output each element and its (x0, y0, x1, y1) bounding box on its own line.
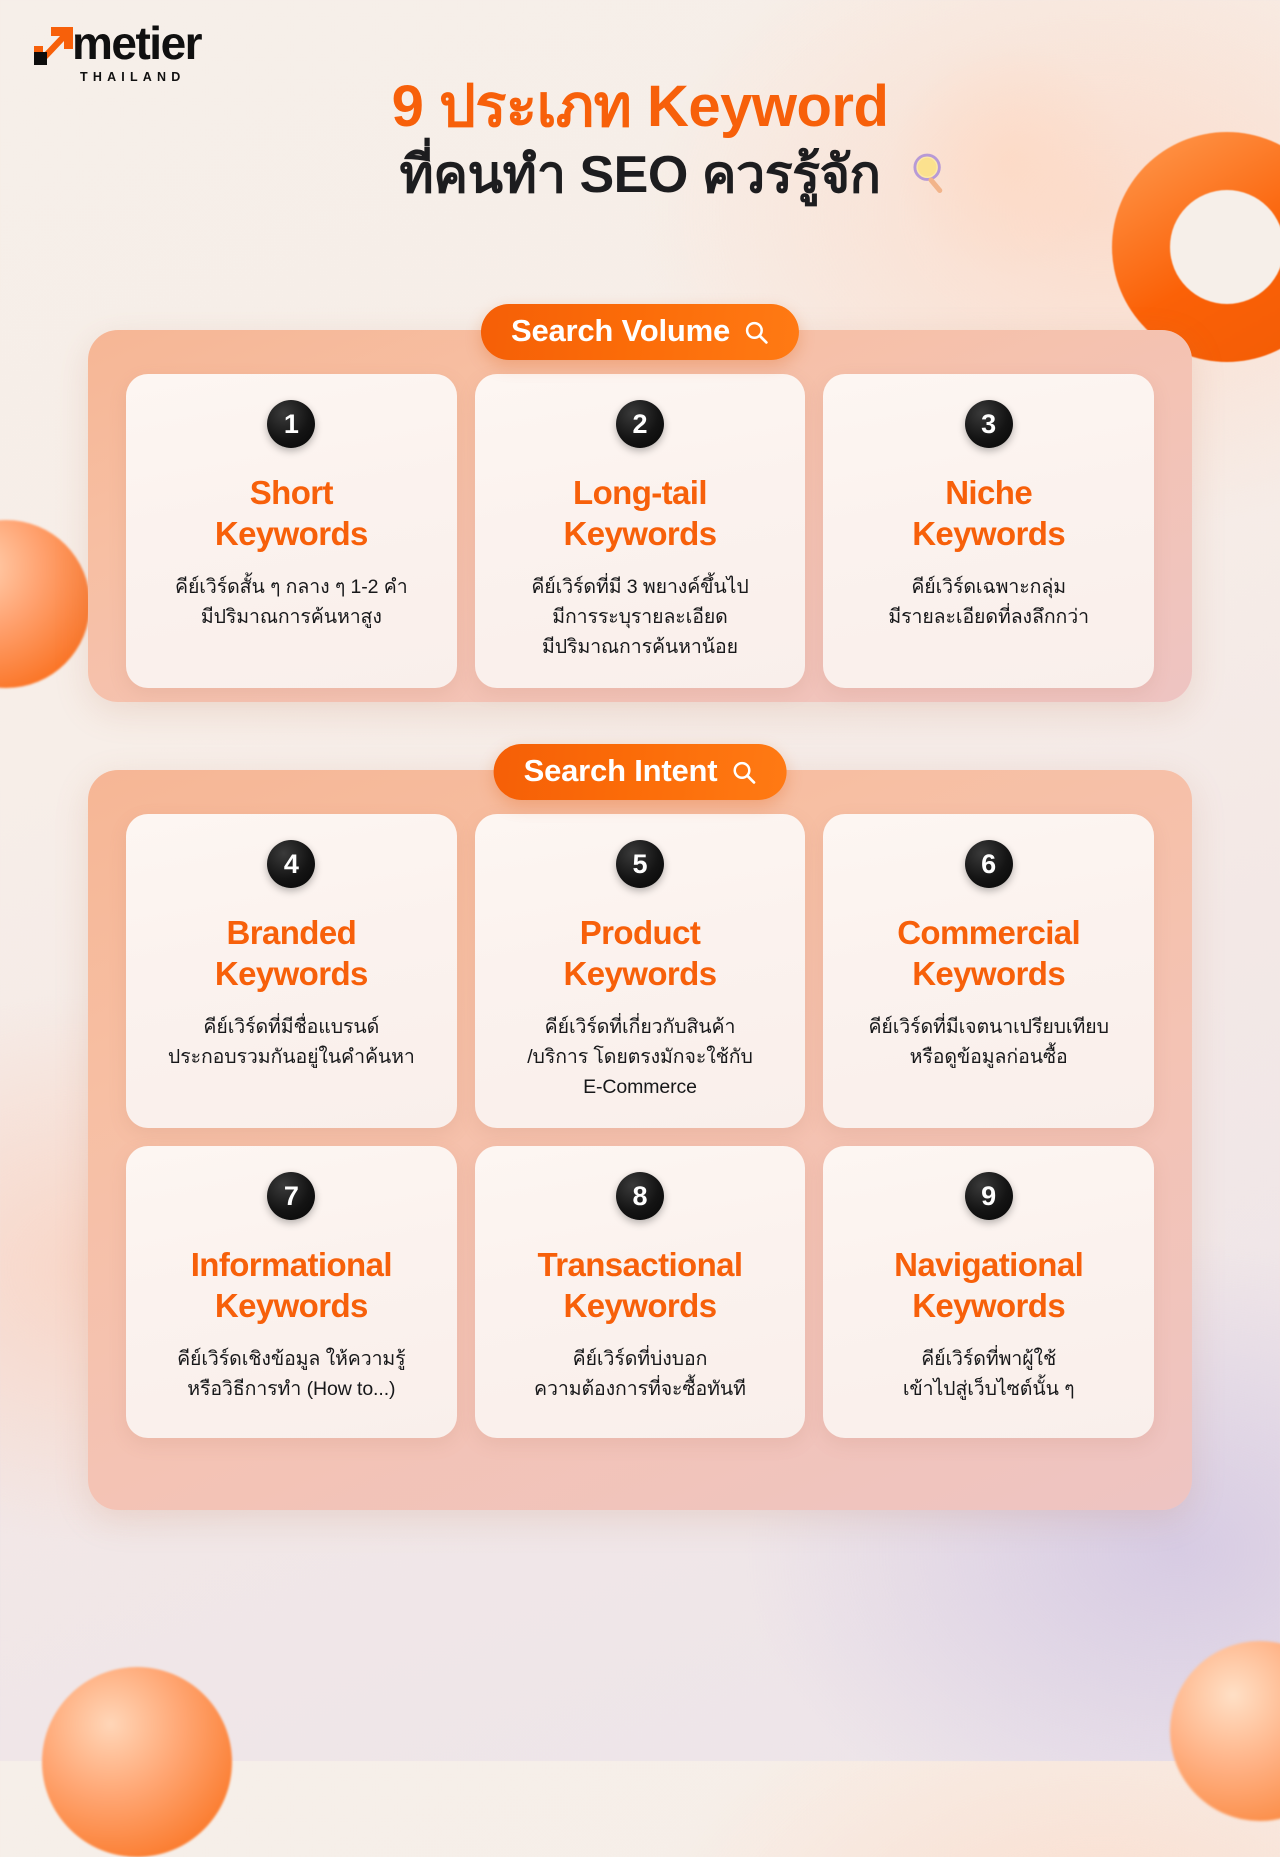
card-desc-line: เข้าไปสู่เว็บไซต์นั้น ๆ (903, 1374, 1075, 1404)
card-title: Short Keywords (215, 472, 368, 554)
card-number-badge: 9 (965, 1172, 1013, 1220)
logo-wordmark: metier (72, 20, 201, 66)
keyword-card[interactable]: 3 Niche Keywords คีย์เวิร์ดเฉพาะกลุ่ม มี… (823, 374, 1154, 688)
decorative-sphere-bottom-left (42, 1667, 232, 1857)
card-title-line: Navigational (894, 1246, 1083, 1283)
card-desc-line: คีย์เวิร์ดที่พาผู้ใช้ (903, 1344, 1075, 1374)
card-title-line: Keywords (912, 955, 1065, 992)
card-desc-line: คีย์เวิร์ดที่มี 3 พยางค์ขึ้นไป (531, 572, 748, 602)
card-title-line: Informational (191, 1246, 392, 1283)
keyword-card[interactable]: 7 Informational Keywords คีย์เวิร์ดเชิงข… (126, 1146, 457, 1438)
title-line-2-wrapper: ที่คนทำ SEO ควรรู้จัก (399, 142, 880, 208)
card-desc-line: หรือวิธีการทำ (How to...) (177, 1374, 405, 1404)
card-number-badge: 4 (267, 840, 315, 888)
card-desc-line: คีย์เวิร์ดเชิงข้อมูล ให้ความรู้ (177, 1344, 405, 1374)
card-desc-line: มีปริมาณการค้นหาน้อย (531, 632, 748, 662)
card-title-line: Keywords (215, 1287, 368, 1324)
card-desc-line: มีปริมาณการค้นหาสูง (175, 602, 408, 632)
card-description: คีย์เวิร์ดที่บ่งบอก ความต้องการที่จะซื้อ… (534, 1344, 746, 1404)
section-search-volume: Search Volume 1 Short Keywords คีย์เวิร์… (88, 330, 1192, 702)
card-desc-line: มีการระบุรายละเอียด (531, 602, 748, 632)
card-desc-line: คีย์เวิร์ดที่บ่งบอก (534, 1344, 746, 1374)
card-desc-line: /บริการ โดยตรงมักจะใช้กับ (527, 1042, 753, 1072)
keyword-card[interactable]: 8 Transactional Keywords คีย์เวิร์ดที่บ่… (475, 1146, 806, 1438)
card-title: Navigational Keywords (894, 1244, 1083, 1326)
keyword-card[interactable]: 9 Navigational Keywords คีย์เวิร์ดที่พาผ… (823, 1146, 1154, 1438)
section-header-search-volume: Search Volume (481, 304, 799, 360)
card-number-badge: 6 (965, 840, 1013, 888)
keyword-card[interactable]: 2 Long-tail Keywords คีย์เวิร์ดที่มี 3 พ… (475, 374, 806, 688)
card-desc-line: คีย์เวิร์ดสั้น ๆ กลาง ๆ 1-2 คำ (175, 572, 408, 602)
card-description: คีย์เวิร์ดเชิงข้อมูล ให้ความรู้ หรือวิธี… (177, 1344, 405, 1404)
card-title: Branded Keywords (215, 912, 368, 994)
card-title-line: Keywords (215, 515, 368, 552)
keyword-card[interactable]: 5 Product Keywords คีย์เวิร์ดที่เกี่ยวกั… (475, 814, 806, 1128)
section-header-search-intent: Search Intent (494, 744, 787, 800)
card-title-line: Branded (226, 914, 356, 951)
card-grid-volume: 1 Short Keywords คีย์เวิร์ดสั้น ๆ กลาง ๆ… (88, 330, 1192, 726)
card-title-line: Keywords (912, 515, 1065, 552)
card-desc-line: มีรายละเอียดที่ลงลึกกว่า (888, 602, 1089, 632)
search-icon (731, 760, 756, 785)
card-description: คีย์เวิร์ดที่มีชื่อแบรนด์ ประกอบรวมกันอย… (168, 1012, 415, 1072)
card-number-badge: 2 (616, 400, 664, 448)
card-title-line: Short (250, 474, 333, 511)
title-line-1: 9 ประเภท Keyword (0, 72, 1280, 142)
card-title: Informational Keywords (191, 1244, 392, 1326)
card-description: คีย์เวิร์ดที่พาผู้ใช้ เข้าไปสู่เว็บไซต์น… (903, 1344, 1075, 1404)
card-description: คีย์เวิร์ดที่มี 3 พยางค์ขึ้นไป มีการระบุ… (531, 572, 748, 662)
arrow-up-right-icon (30, 24, 76, 66)
card-desc-line: ความต้องการที่จะซื้อทันที (534, 1374, 746, 1404)
card-description: คีย์เวิร์ดที่เกี่ยวกับสินค้า /บริการ โดย… (527, 1012, 753, 1102)
card-title-line: Niche (945, 474, 1032, 511)
card-title: Transactional Keywords (538, 1244, 743, 1326)
card-number-badge: 3 (965, 400, 1013, 448)
section-title: Search Volume (511, 313, 730, 349)
card-title-line: Keywords (564, 955, 717, 992)
card-title-line: Long-tail (573, 474, 707, 511)
card-title-line: Commercial (897, 914, 1080, 951)
card-description: คีย์เวิร์ดสั้น ๆ กลาง ๆ 1-2 คำ มีปริมาณก… (175, 572, 408, 632)
card-number-badge: 1 (267, 400, 315, 448)
decorative-sphere-bottom-right (1170, 1641, 1280, 1821)
card-desc-line: หรือดูข้อมูลก่อนซื้อ (868, 1042, 1108, 1072)
page-title: 9 ประเภท Keyword ที่คนทำ SEO ควรรู้จัก (0, 72, 1280, 208)
decorative-sphere-left (0, 520, 90, 688)
card-title-line: Keywords (564, 515, 717, 552)
card-title: Long-tail Keywords (564, 472, 717, 554)
card-title-line: Keywords (564, 1287, 717, 1324)
card-desc-line: คีย์เวิร์ดเฉพาะกลุ่ม (888, 572, 1089, 602)
keyword-card[interactable]: 1 Short Keywords คีย์เวิร์ดสั้น ๆ กลาง ๆ… (126, 374, 457, 688)
card-title-line: Product (580, 914, 700, 951)
card-number-badge: 5 (616, 840, 664, 888)
card-number-badge: 8 (616, 1172, 664, 1220)
card-title: Commercial Keywords (897, 912, 1080, 994)
card-title: Product Keywords (564, 912, 717, 994)
card-title: Niche Keywords (912, 472, 1065, 554)
card-desc-line: คีย์เวิร์ดที่เกี่ยวกับสินค้า (527, 1012, 753, 1042)
card-grid-intent: 4 Branded Keywords คีย์เวิร์ดที่มีชื่อแบ… (88, 770, 1192, 1472)
keyword-card[interactable]: 4 Branded Keywords คีย์เวิร์ดที่มีชื่อแบ… (126, 814, 457, 1128)
card-description: คีย์เวิร์ดที่มีเจตนาเปรียบเทียบ หรือดูข้… (868, 1012, 1108, 1072)
card-title-line: Transactional (538, 1246, 743, 1283)
title-line-2: ที่คนทำ SEO ควรรู้จัก (399, 146, 880, 204)
card-desc-line: E-Commerce (527, 1072, 753, 1102)
card-number-badge: 7 (267, 1172, 315, 1220)
section-title: Search Intent (524, 753, 718, 789)
magnifying-glass-icon (907, 150, 953, 196)
section-search-intent: Search Intent 4 Branded Keywords คีย์เวิ… (88, 770, 1192, 1510)
keyword-card[interactable]: 6 Commercial Keywords คีย์เวิร์ดที่มีเจต… (823, 814, 1154, 1128)
card-desc-line: ประกอบรวมกันอยู่ในคำค้นหา (168, 1042, 415, 1072)
card-desc-line: คีย์เวิร์ดที่มีเจตนาเปรียบเทียบ (868, 1012, 1108, 1042)
card-title-line: Keywords (912, 1287, 1065, 1324)
card-title-line: Keywords (215, 955, 368, 992)
search-icon (744, 320, 769, 345)
card-description: คีย์เวิร์ดเฉพาะกลุ่ม มีรายละเอียดที่ลงลึ… (888, 572, 1089, 632)
card-desc-line: คีย์เวิร์ดที่มีชื่อแบรนด์ (168, 1012, 415, 1042)
